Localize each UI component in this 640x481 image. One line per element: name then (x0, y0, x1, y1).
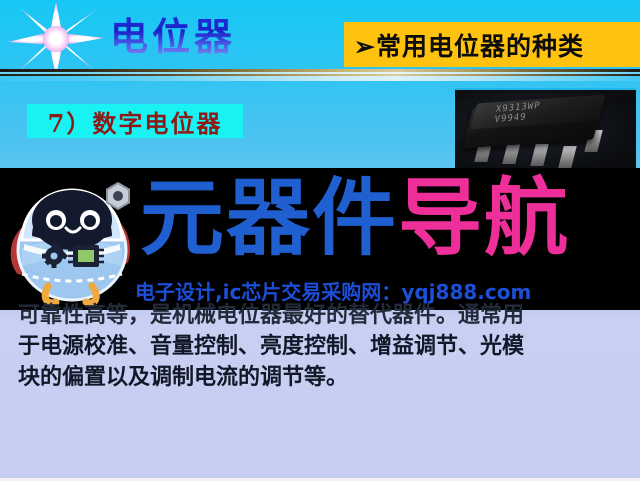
list-item-label: 7）数字电位器 (48, 104, 223, 139)
watermark-overlay: 元器件导航 电子设计,ic芯片交易采购网：yqj888.com (0, 168, 640, 310)
body-paragraph: 可靠性高等，是机械电位器最好的替代器件。通常用 于电源校准、音量控制、亮度控制、… (18, 300, 628, 393)
presentation-slide: 电位器 ➢常用电位器的种类 7）数字电位器 X9313WP V9949 (0, 0, 640, 481)
watermark-brand-part2: 导航 (398, 169, 570, 267)
body-line: 块的偏置以及调制电流的调节等。 (18, 362, 628, 393)
chip-marking: X9313WP V9949 (494, 101, 541, 125)
starburst-icon (8, 2, 104, 76)
section-banner: ➢常用电位器的种类 (344, 22, 640, 67)
watermark-brand: 元器件导航 (140, 172, 570, 264)
title-divider (0, 69, 640, 81)
watermark-brand-part1: 元器件 (140, 169, 398, 267)
body-line: 于电源校准、音量控制、亮度控制、增益调节、光模 (18, 331, 628, 362)
robot-mascot-icon (8, 170, 136, 308)
page-title: 电位器 (110, 6, 236, 61)
list-item-label-box: 7）数字电位器 (27, 104, 243, 138)
ic-chip-photo: X9313WP V9949 (455, 88, 636, 175)
body-line: 可靠性高等，是机械电位器最好的替代器件。通常用 (18, 300, 628, 331)
section-banner-label: ➢常用电位器的种类 (344, 27, 584, 63)
